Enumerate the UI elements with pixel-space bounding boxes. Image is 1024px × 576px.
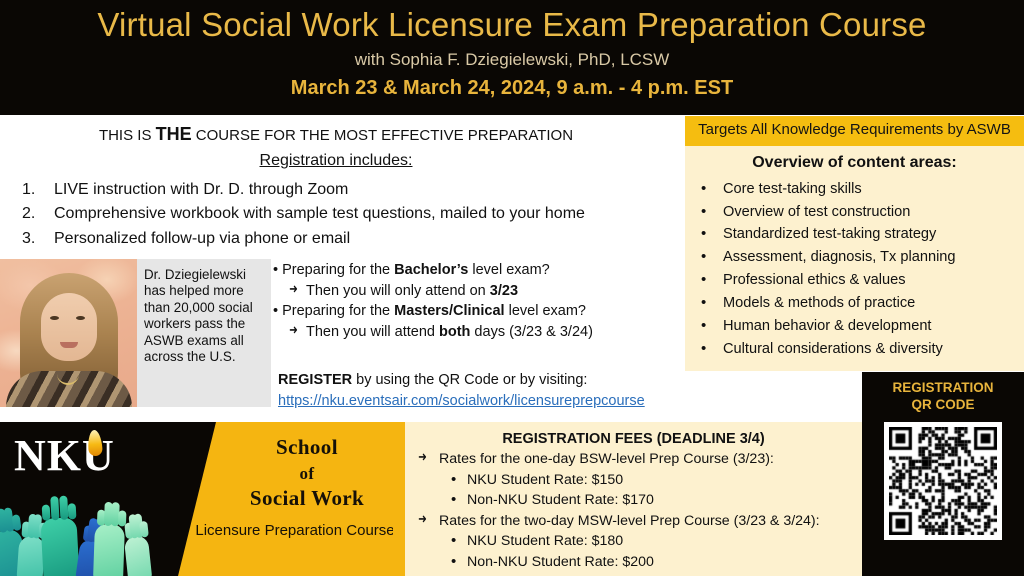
- question-post: level exam?: [505, 303, 586, 319]
- event-dates: March 23 & March 24, 2024, 9 a.m. - 4 p.…: [0, 68, 1024, 98]
- exam-path-block: Preparing for the Bachelor’s level exam?…: [278, 260, 678, 342]
- exam-path-question: Preparing for the Bachelor’s level exam?: [278, 260, 678, 281]
- list-item: Standardized test-taking strategy: [695, 223, 1024, 246]
- registration-link[interactable]: https://nku.eventsair.com/socialwork/lic…: [278, 391, 698, 412]
- register-cta-line: REGISTER by using the QR Code or by visi…: [278, 370, 698, 391]
- avatar: [0, 259, 137, 407]
- qr-title: REGISTRATION QR CODE: [862, 372, 1024, 414]
- pitch-headline-pre: THIS IS: [99, 127, 156, 144]
- exam-path-answer: Then you will attend both days (3/23 & 3…: [278, 322, 678, 343]
- pitch-headline-post: COURSE FOR THE MOST EFFECTIVE PREPARATIO…: [192, 127, 573, 144]
- list-item: Models & methods of practice: [695, 292, 1024, 315]
- fee-item: Non-NKU Student Rate: $170: [405, 490, 862, 511]
- photo-face-shape: [41, 293, 97, 361]
- hand-finger: [139, 521, 149, 538]
- registration-fees-panel: REGISTRATION FEES (DEADLINE 3/4) Rates f…: [405, 422, 862, 576]
- raised-hand-icon: [124, 535, 152, 576]
- school-line-2: of: [214, 464, 400, 483]
- exam-path-question: Preparing for the Masters/Clinical level…: [278, 301, 678, 322]
- aswb-panel-header: Targets All Knowledge Requirements by AS…: [685, 116, 1024, 146]
- nku-school-of-social-work-logo: NKU School of Social Work Licensure Prep…: [0, 422, 401, 576]
- fee-item: NKU Student Rate: $180: [405, 531, 862, 552]
- list-item: Professional ethics & values: [695, 269, 1024, 292]
- question-emphasis: Bachelor’s: [394, 262, 468, 278]
- qr-code-icon[interactable]: [884, 422, 1002, 540]
- pitch-headline: THIS IS THE COURSE FOR THE MOST EFFECTIV…: [0, 118, 672, 146]
- registration-qr-block: REGISTRATION QR CODE: [862, 372, 1024, 576]
- fee-group-label: Rates for the one-day BSW-level Prep Cou…: [405, 449, 862, 470]
- photo-eye-right: [76, 316, 85, 320]
- register-cta: REGISTER by using the QR Code or by visi…: [278, 370, 698, 412]
- exam-path-answer: Then you will only attend on 3/23: [278, 281, 678, 302]
- aswb-content-areas-list: Core test-taking skills Overview of test…: [685, 176, 1024, 361]
- hand-finger: [59, 496, 68, 520]
- school-line-1: School: [214, 436, 400, 460]
- list-item: Core test-taking skills: [695, 178, 1024, 201]
- qr-code-canvas[interactable]: [889, 427, 997, 535]
- qr-title-line2: QR CODE: [862, 397, 1024, 414]
- question-pre: Preparing for the: [282, 303, 394, 319]
- question-emphasis: Masters/Clinical: [394, 303, 504, 319]
- list-item: Cultural considerations & diversity: [695, 338, 1024, 361]
- question-post: level exam?: [468, 262, 549, 278]
- hand-finger: [68, 503, 77, 519]
- logo-tagline: Licensure Preparation Course: [190, 522, 400, 539]
- fee-group-label: Rates for the two-day MSW-level Prep Cou…: [405, 511, 862, 532]
- hand-finger: [11, 514, 21, 531]
- list-item: Assessment, diagnosis, Tx planning: [695, 246, 1024, 269]
- list-item: Human behavior & development: [695, 315, 1024, 338]
- presenter-bio-strip: Dr. Dziegielewski has helped more than 2…: [0, 259, 271, 407]
- school-of-social-work-text: School of Social Work Licensure Preparat…: [214, 436, 400, 539]
- registration-includes-list: LIVE instruction with Dr. D. through Zoo…: [22, 178, 672, 252]
- aswb-overview-label: Overview of content areas:: [685, 146, 1024, 176]
- fee-item: Non-NKU Student Rate: $200: [405, 552, 862, 573]
- list-item: Personalized follow-up via phone or emai…: [22, 227, 672, 252]
- raised-hand-icon: [40, 517, 79, 576]
- presenter-bio-caption: Dr. Dziegielewski has helped more than 2…: [137, 259, 271, 407]
- hand-finger: [42, 504, 51, 520]
- school-line-3: Social Work: [214, 487, 400, 511]
- register-emphasis: REGISTER: [278, 372, 352, 388]
- list-item: Overview of test construction: [695, 201, 1024, 224]
- answer-emphasis: 3/23: [490, 283, 518, 299]
- list-item: Comprehensive workbook with sample test …: [22, 202, 672, 227]
- answer-pre: Then you will only attend on: [306, 283, 490, 299]
- answer-post: days (3/23 & 3/24): [470, 324, 593, 340]
- answer-emphasis: both: [439, 324, 470, 340]
- pitch-block: THIS IS THE COURSE FOR THE MOST EFFECTIV…: [0, 118, 672, 252]
- header-banner: Virtual Social Work Licensure Exam Prepa…: [0, 0, 1024, 115]
- raised-hand-icon: [93, 523, 125, 576]
- hand-finger: [50, 496, 59, 520]
- pitch-headline-emphasis: THE: [156, 124, 192, 144]
- fee-item: NKU Student Rate: $150: [405, 470, 862, 491]
- answer-pre: Then you will attend: [306, 324, 439, 340]
- registration-includes-label: Registration includes:: [0, 146, 672, 170]
- list-item: LIVE instruction with Dr. D. through Zoo…: [22, 178, 672, 203]
- question-pre: Preparing for the: [282, 262, 394, 278]
- fees-panel-title: REGISTRATION FEES (DEADLINE 3/4): [405, 422, 862, 449]
- page-title: Virtual Social Work Licensure Exam Prepa…: [0, 0, 1024, 41]
- photo-eye-left: [50, 316, 59, 320]
- presenter-subtitle: with Sophia F. Dziegielewski, PhD, LCSW: [0, 41, 1024, 68]
- register-text: by using the QR Code or by visiting:: [352, 372, 587, 388]
- qr-title-line1: REGISTRATION: [862, 380, 1024, 397]
- aswb-content-panel: Targets All Knowledge Requirements by AS…: [685, 116, 1024, 371]
- fees-panel-accent-bar: [393, 422, 405, 576]
